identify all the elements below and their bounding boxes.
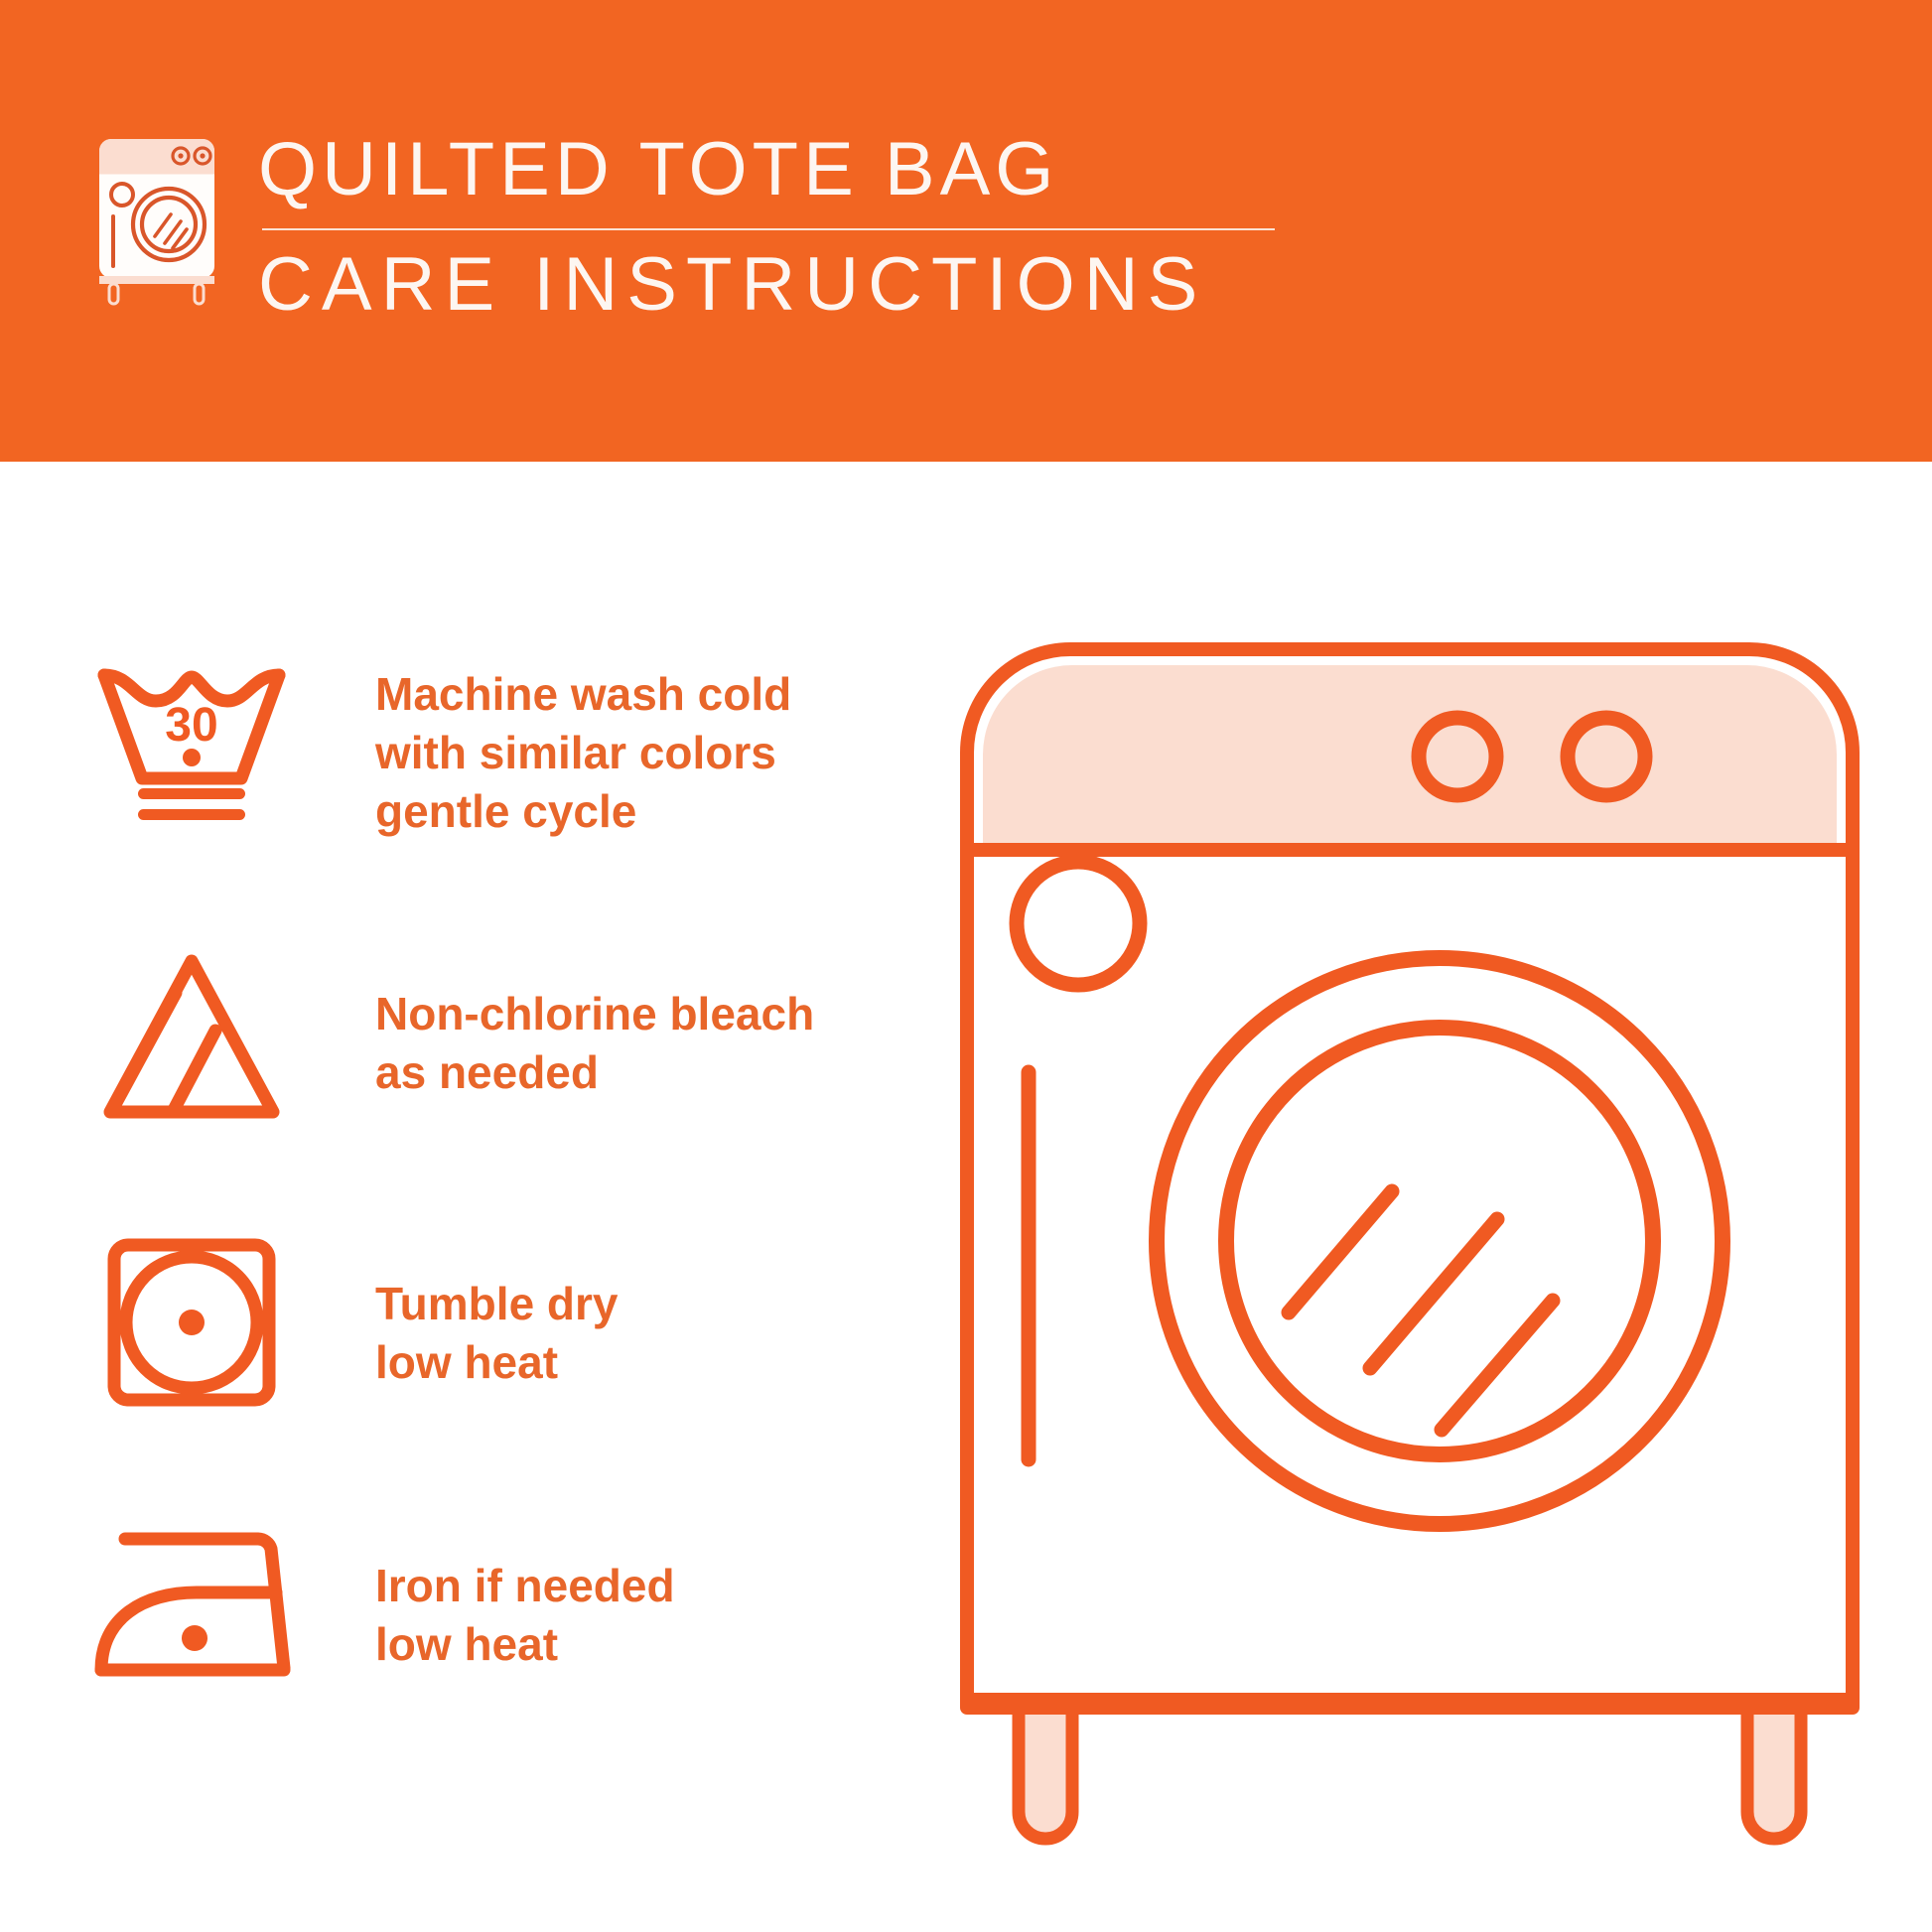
title-divider	[262, 228, 1275, 230]
iron-icon	[77, 1513, 306, 1688]
instruction-line: with similar colors	[375, 724, 791, 782]
page-title: QUILTED TOTE BAG	[258, 131, 1275, 208]
leg	[1019, 1708, 1072, 1839]
care-instructions-page: QUILTED TOTE BAG CARE INSTRUCTIONS 30	[0, 0, 1932, 1932]
instruction-line: low heat	[375, 1615, 675, 1674]
wash-temperature-label: 30	[165, 699, 217, 752]
knob	[1568, 718, 1645, 795]
instruction-text: Non-chlorine bleach as needed	[306, 941, 814, 1102]
page-subtitle: CARE INSTRUCTIONS	[258, 246, 1275, 324]
washing-machine-icon	[77, 127, 236, 306]
list-item: Non-chlorine bleach as needed	[77, 941, 951, 1227]
list-item: 30 Machine wash cold with similar colors…	[77, 655, 951, 941]
instruction-line: Tumble dry	[375, 1275, 619, 1333]
tumble-dry-icon	[77, 1227, 306, 1412]
instruction-text: Tumble dry low heat	[306, 1227, 619, 1392]
instruction-line: Iron if needed	[375, 1557, 675, 1615]
instruction-line: gentle cycle	[375, 782, 791, 841]
header-title-block: QUILTED TOTE BAG CARE INSTRUCTIONS	[258, 127, 1275, 323]
list-item: Tumble dry low heat	[77, 1227, 951, 1513]
instruction-line: Non-chlorine bleach	[375, 985, 814, 1043]
header-content: QUILTED TOTE BAG CARE INSTRUCTIONS	[77, 127, 1275, 323]
header-banner: QUILTED TOTE BAG CARE INSTRUCTIONS	[0, 0, 1932, 462]
instruction-line: low heat	[375, 1333, 619, 1392]
instruction-line: Machine wash cold	[375, 665, 791, 724]
bleach-triangle-icon	[77, 941, 306, 1126]
wash-basin-30-icon: 30	[77, 655, 306, 828]
list-item: Iron if needed low heat	[77, 1513, 951, 1799]
instruction-text: Iron if needed low heat	[306, 1513, 675, 1674]
instruction-list: 30 Machine wash cold with similar colors…	[77, 655, 951, 1799]
leg	[1747, 1708, 1801, 1839]
control-panel	[983, 665, 1837, 849]
instruction-text: Machine wash cold with similar colors ge…	[306, 655, 791, 841]
knob	[1419, 718, 1496, 795]
washing-machine-illustration	[953, 635, 1866, 1866]
instruction-line: as needed	[375, 1043, 814, 1102]
